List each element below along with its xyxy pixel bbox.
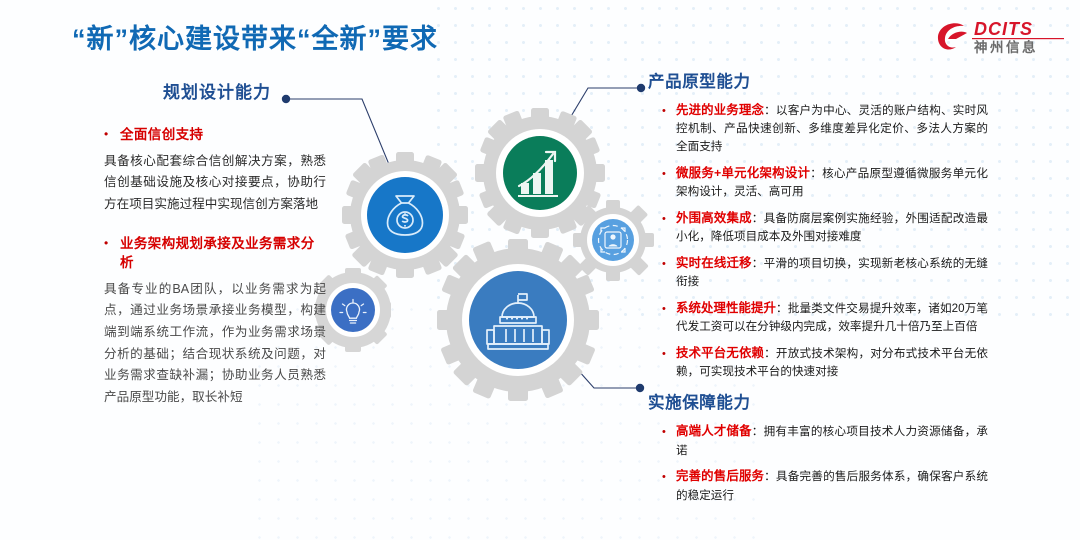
bullet-dot-icon: • (662, 467, 676, 504)
lightbulb-icon (340, 300, 366, 324)
connector-prototype (540, 84, 645, 168)
section-heading-product: 产品原型能力 (648, 68, 988, 92)
list-item-key: 外围高效集成 (676, 211, 752, 225)
left-bullet-1-body: 具备核心配套综合信创解决方案，熟悉信创基础设施及核心对接要点，协助行方在项目实施… (104, 151, 326, 216)
lightbulb-gear (315, 268, 391, 352)
bullet-dot-icon: • (662, 254, 676, 291)
left-bullet-2: • 业务架构规划承接及业务需求分析 (104, 234, 326, 273)
list-item-sep: ： (752, 257, 764, 270)
person-target-icon (599, 226, 628, 255)
money-bag-icon (388, 196, 423, 235)
bullet-dot-icon: • (662, 422, 676, 459)
list-item-text: 实时在线迁移：平滑的项目切换，实现新老核心系统的无缝衔接 (676, 254, 988, 291)
list-item-text: 先进的业务理念：以客户为中心、灵活的账户结构、实时风控机制、产品快速创新、多维度… (676, 101, 988, 156)
bullet-dot-icon: • (662, 101, 676, 156)
left-column-heading: 规划设计能力 (104, 78, 326, 103)
bullet-dot-icon: • (662, 209, 676, 246)
person-target-gear (573, 200, 654, 281)
list-item-key: 实时在线迁移 (676, 256, 752, 270)
bullet-dot-icon: • (662, 344, 676, 381)
list-item-text: 完善的售后服务：具备完善的售后服务体系，确保客户系统的稳定运行 (676, 467, 988, 504)
slide-root: “新”核心建设带来“全新”要求 DCITS 神州信息 (0, 0, 1080, 540)
list-item-key: 高端人才储备 (676, 424, 752, 438)
left-bullet-2-title: 业务架构规划承接及业务需求分析 (120, 234, 326, 273)
bullet-dot-icon: • (662, 299, 676, 336)
list-item: • 先进的业务理念：以客户为中心、灵活的账户结构、实时风控机制、产品快速创新、多… (648, 101, 988, 156)
list-item-text: 技术平台无依赖：开放式技术架构，对分布式技术平台无依赖，可实现技术平台的快速对接 (676, 344, 988, 381)
list-item: • 微服务+单元化架构设计：核心产品原型遵循微服务单元化架构设计，灵活、高可用 (648, 164, 988, 201)
page-title: “新”核心建设带来“全新”要求 (72, 17, 438, 56)
left-bullet-1-title: 全面信创支持 (120, 125, 203, 145)
list-item-key: 先进的业务理念 (676, 103, 764, 117)
bank-building-icon (487, 294, 549, 349)
bullet-dot-icon: • (662, 164, 676, 201)
list-item-key: 微服务+单元化架构设计 (676, 166, 810, 180)
dcits-logo: DCITS 神州信息 (934, 14, 1066, 58)
list-item-text: 系统处理性能提升：批量类文件交易提升效率，诸如20万笔代发工资可以在分钟级内完成… (676, 299, 988, 336)
money-bag-gear (342, 152, 468, 278)
list-item: • 系统处理性能提升：批量类文件交易提升效率，诸如20万笔代发工资可以在分钟级内… (648, 299, 988, 336)
right-column: 产品原型能力 • 先进的业务理念：以客户为中心、灵活的账户结构、实时风控机制、产… (648, 68, 988, 512)
list-item-sep: ： (776, 302, 788, 315)
list-item: • 完善的售后服务：具备完善的售后服务体系，确保客户系统的稳定运行 (648, 467, 988, 504)
growth-chart-gear (475, 108, 605, 238)
list-item-sep: ： (752, 425, 764, 438)
connector-delivery (546, 334, 644, 392)
list-item: • 实时在线迁移：平滑的项目切换，实现新老核心系统的无缝衔接 (648, 254, 988, 291)
left-bullet-1: • 全面信创支持 (104, 125, 326, 145)
list-item: • 技术平台无依赖：开放式技术架构，对分布式技术平台无依赖，可实现技术平台的快速… (648, 344, 988, 381)
svg-text:神州信息: 神州信息 (974, 39, 1038, 55)
bullet-dot-icon: • (104, 234, 120, 273)
growth-arrow-icon (519, 152, 555, 186)
list-item-text: 外围高效集成：具备防腐层案例实施经验，外围适配改造最小化，降低项目成本及外围对接… (676, 209, 988, 246)
list-item-sep: ： (764, 347, 776, 360)
list-item-key: 完善的售后服务 (676, 469, 764, 483)
list-item-text: 微服务+单元化架构设计：核心产品原型遵循微服务单元化架构设计，灵活、高可用 (676, 164, 988, 201)
left-bullet-2-body: 具备专业的BA团队，以业务需求为起点，通过业务场景承接业务模型，构建端到端系统工… (104, 279, 326, 409)
left-column: 规划设计能力 • 全面信创支持 具备核心配套综合信创解决方案，熟悉信创基础设施及… (104, 78, 326, 427)
list-item-key: 系统处理性能提升 (676, 301, 776, 315)
list-item-sep: ： (764, 104, 776, 117)
section-heading-delivery: 实施保障能力 (648, 389, 988, 413)
bullet-dot-icon: • (104, 125, 120, 145)
list-item-text: 高端人才储备：拥有丰富的核心项目技术人力资源储备，承诺 (676, 422, 988, 459)
list-item-sep: ： (764, 470, 776, 483)
list-item: • 高端人才储备：拥有丰富的核心项目技术人力资源储备，承诺 (648, 422, 988, 459)
list-item: • 外围高效集成：具备防腐层案例实施经验，外围适配改造最小化，降低项目成本及外围… (648, 209, 988, 246)
list-item-key: 技术平台无依赖 (676, 346, 764, 360)
logo-swoosh-icon (938, 23, 967, 49)
list-item-sep: ： (810, 167, 822, 180)
bank-gear (437, 239, 599, 401)
list-item-sep: ： (752, 212, 764, 225)
svg-text:DCITS: DCITS (974, 19, 1033, 39)
bar-chart-growth-icon (518, 160, 558, 197)
